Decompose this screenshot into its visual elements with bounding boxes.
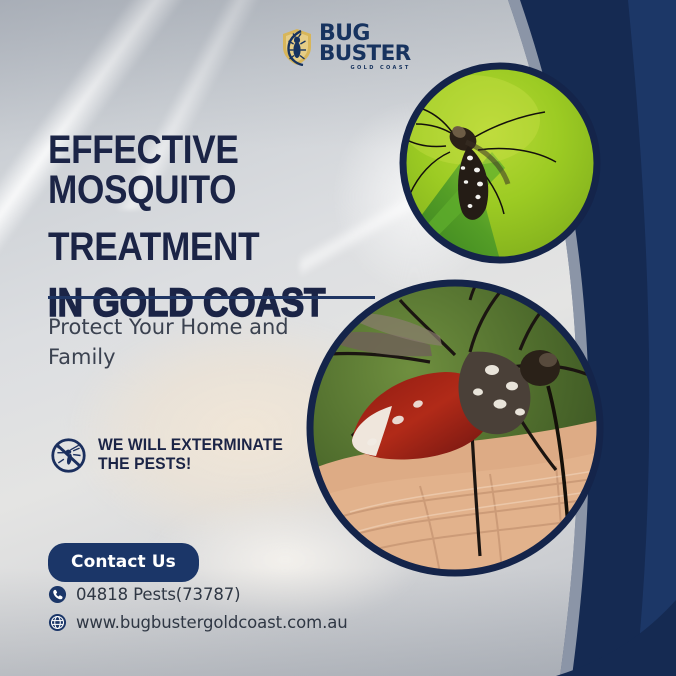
headline-line-2: TREATMENT [48, 227, 365, 267]
contact-website[interactable]: www.bugbustergoldcoast.com.au [48, 613, 348, 632]
poster-canvas: BUG BUSTER GOLD COAST EFFECTIVE MOSQUITO… [0, 0, 676, 676]
logo-line-2: BUSTER [319, 44, 411, 64]
brand-logo[interactable]: BUG BUSTER GOLD COAST [281, 24, 411, 71]
contact-phone[interactable]: 04818 Pests(73787) [48, 585, 240, 604]
badge-text: WE WILL EXTERMINATE THE PESTS! [98, 436, 283, 475]
headline-block: EFFECTIVE MOSQUITO TREATMENT IN GOLD COA… [48, 130, 408, 323]
headline-divider [48, 296, 375, 299]
logo-tagline: GOLD COAST [319, 66, 411, 71]
subheading: Protect Your Home and Family [48, 313, 348, 373]
no-mosquito-icon [50, 437, 87, 474]
exterminate-badge: WE WILL EXTERMINATE THE PESTS! [50, 436, 293, 475]
contact-website-text: www.bugbustergoldcoast.com.au [76, 613, 348, 632]
shield-bug-icon [281, 28, 313, 66]
contact-phone-text: 04818 Pests(73787) [76, 585, 240, 604]
globe-icon [48, 613, 67, 632]
badge-line-2: THE PESTS! [98, 455, 283, 474]
phone-icon [48, 585, 67, 604]
logo-wordmark: BUG BUSTER GOLD COAST [319, 24, 411, 71]
badge-line-1: WE WILL EXTERMINATE [98, 436, 283, 455]
contact-us-button[interactable]: Contact Us [48, 543, 199, 582]
headline-line-1: EFFECTIVE MOSQUITO [48, 130, 365, 210]
